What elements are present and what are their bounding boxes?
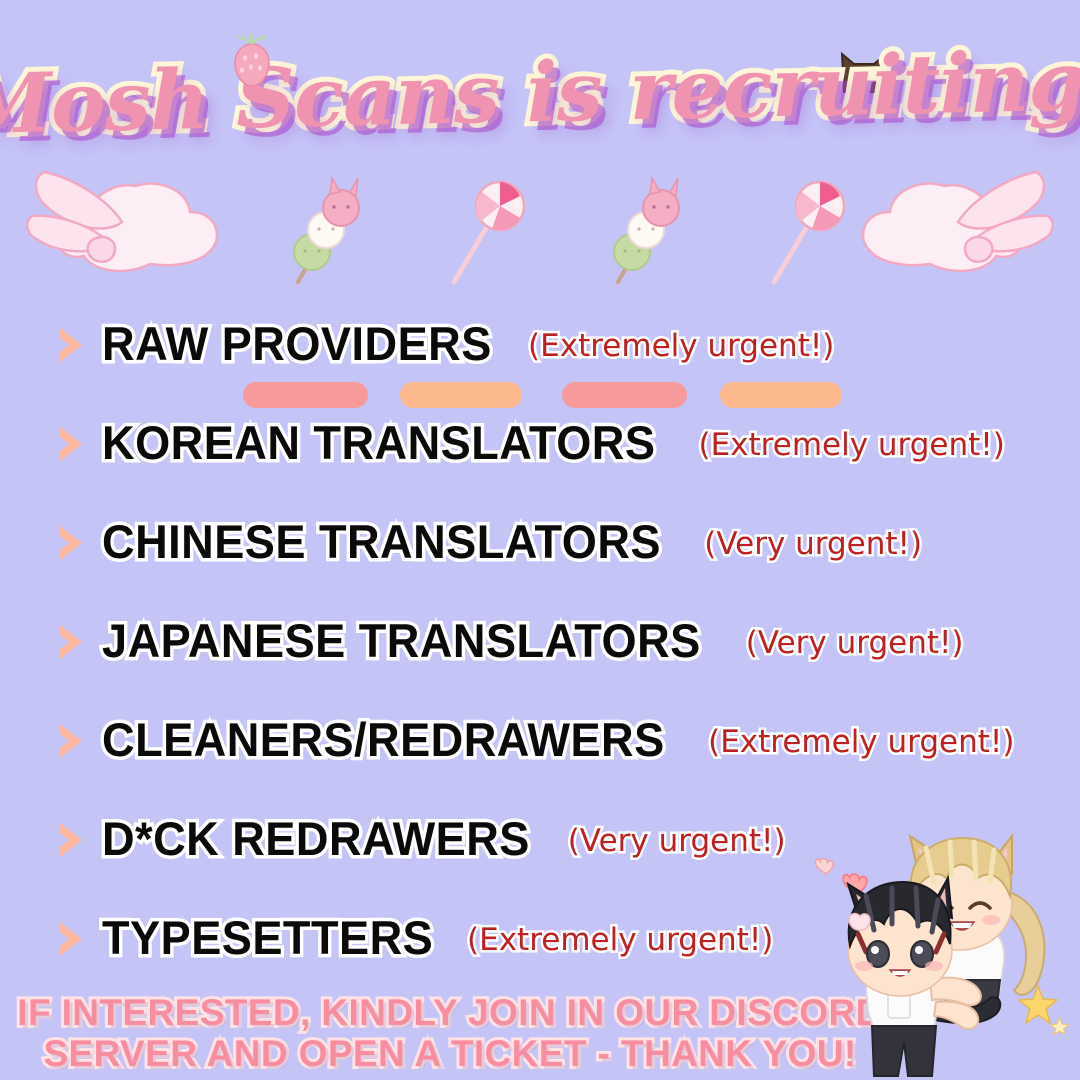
role-row[interactable]: CLEANERS/REDRAWERS (Extremely urgent!) <box>0 690 1080 789</box>
chibi-characters-artwork <box>804 830 1076 1080</box>
role-name: RAW PROVIDERS <box>102 316 492 371</box>
lollipop-icon-1 <box>428 174 540 292</box>
role-name: D*CK REDRAWERS <box>102 811 530 866</box>
strawberry-icon <box>228 32 276 88</box>
winged-cloud-icon-right <box>847 164 1062 286</box>
decorative-divider <box>0 162 1080 290</box>
footer-callout: IF INTERESTED, KINDLY JOIN IN OUR DISCOR… <box>0 992 900 1074</box>
role-urgency: (Very urgent!) <box>704 526 922 562</box>
chevron-right-icon <box>56 325 86 365</box>
chevron-right-icon <box>56 622 86 662</box>
role-name: CHINESE TRANSLATORS <box>102 514 661 569</box>
poster-title-area: Mosh Scans is recruiting! <box>0 28 1080 158</box>
role-name: KOREAN TRANSLATORS <box>102 415 655 470</box>
lollipop-icon-2 <box>748 174 860 292</box>
role-urgency: (Extremely urgent!) <box>699 427 1005 463</box>
recruitment-poster: Mosh Scans is recruiting! <box>0 0 1080 1080</box>
page-title: Mosh Scans is recruiting! <box>0 33 1080 153</box>
role-row[interactable]: KOREAN TRANSLATORS (Extremely urgent!) <box>0 393 1080 492</box>
chevron-right-icon <box>56 919 86 959</box>
winged-cloud-icon-left <box>18 164 233 286</box>
chevron-right-icon <box>56 424 86 464</box>
dango-skewer-icon-2 <box>588 174 700 292</box>
role-urgency: (Very urgent!) <box>568 823 786 859</box>
role-name: CLEANERS/REDRAWERS <box>102 712 665 767</box>
role-row[interactable]: CHINESE TRANSLATORS (Very urgent!) <box>0 492 1080 591</box>
role-urgency: (Extremely urgent!) <box>528 328 834 364</box>
dango-skewer-icon-1 <box>268 174 380 292</box>
role-urgency: (Very urgent!) <box>746 625 964 661</box>
chevron-right-icon <box>56 721 86 761</box>
role-urgency: (Extremely urgent!) <box>467 922 773 958</box>
chevron-right-icon <box>56 523 86 563</box>
role-urgency: (Extremely urgent!) <box>708 724 1014 760</box>
footer-line-2: SERVER AND OPEN A TICKET - THANK YOU! <box>0 1033 900 1074</box>
chevron-right-icon <box>56 820 86 860</box>
role-row[interactable]: JAPANESE TRANSLATORS (Very urgent!) <box>0 591 1080 690</box>
role-row[interactable]: RAW PROVIDERS (Extremely urgent!) <box>0 294 1080 393</box>
footer-line-1: IF INTERESTED, KINDLY JOIN IN OUR DISCOR… <box>0 992 900 1033</box>
role-name: TYPESETTERS <box>102 910 433 965</box>
role-name: JAPANESE TRANSLATORS <box>102 613 701 668</box>
